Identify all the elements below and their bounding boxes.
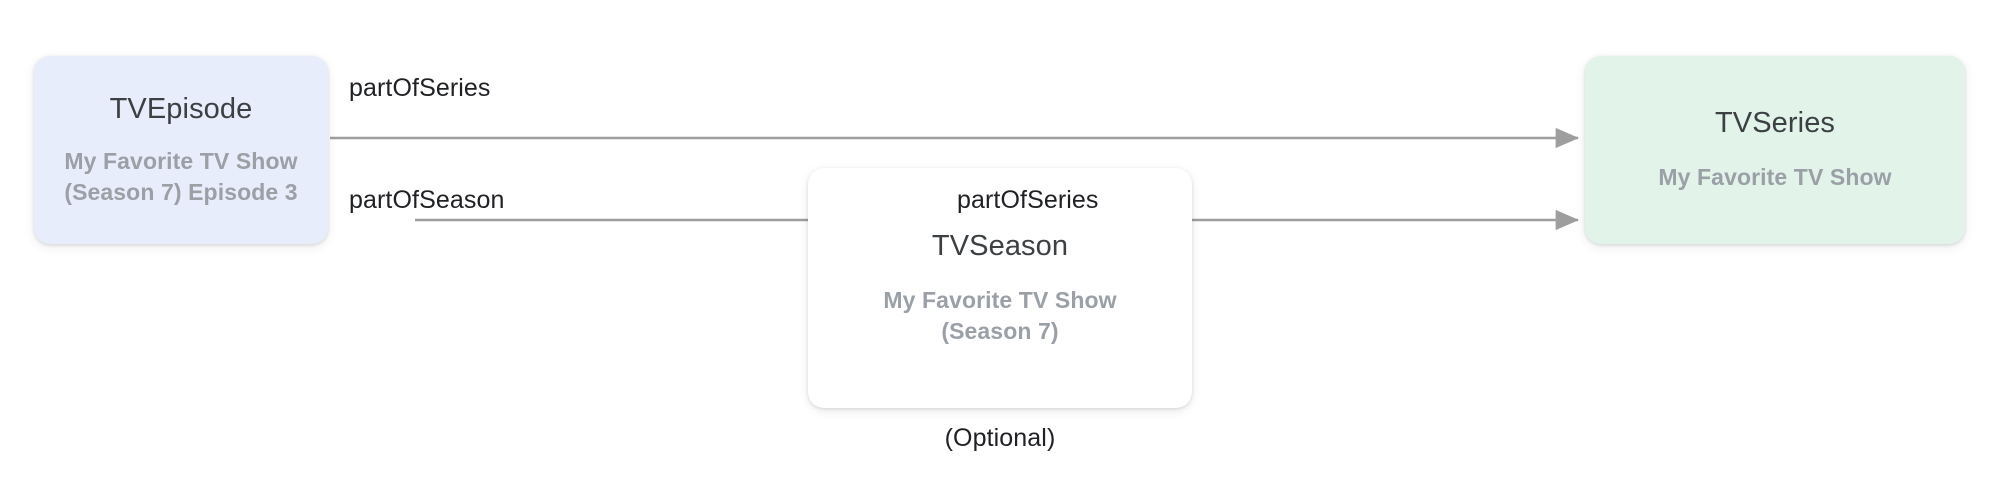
edge-label-season-to-series: partOfSeries	[957, 186, 1099, 215]
node-tvseason-optional-caption: (Optional)	[808, 424, 1192, 453]
node-tvseason-subtitle-line-1: My Favorite TV Show	[883, 285, 1116, 315]
node-tvseries-subtitle-line-1: My Favorite TV Show	[1658, 162, 1891, 192]
node-tvepisode[interactable]: TVEpisode My Favorite TV Show (Season 7)…	[34, 56, 328, 244]
node-tvepisode-subtitle: My Favorite TV Show (Season 7) Episode 3	[64, 146, 297, 207]
node-tvepisode-title: TVEpisode	[110, 93, 253, 126]
node-tvseries[interactable]: TVSeries My Favorite TV Show	[1585, 56, 1965, 244]
node-tvseason-subtitle-line-2: (Season 7)	[883, 316, 1116, 346]
diagram-canvas: TVEpisode My Favorite TV Show (Season 7)…	[0, 0, 2000, 495]
node-tvseason-subtitle: My Favorite TV Show (Season 7)	[883, 285, 1116, 346]
edge-label-episode-to-season: partOfSeason	[349, 186, 504, 215]
node-tvseason-title: TVSeason	[932, 230, 1068, 263]
node-tvepisode-subtitle-line-1: My Favorite TV Show	[64, 146, 297, 176]
node-tvseries-title: TVSeries	[1715, 107, 1835, 140]
node-tvseries-subtitle: My Favorite TV Show	[1658, 162, 1891, 192]
node-tvepisode-subtitle-line-2: (Season 7) Episode 3	[64, 177, 297, 207]
edge-label-episode-to-series: partOfSeries	[349, 74, 491, 103]
